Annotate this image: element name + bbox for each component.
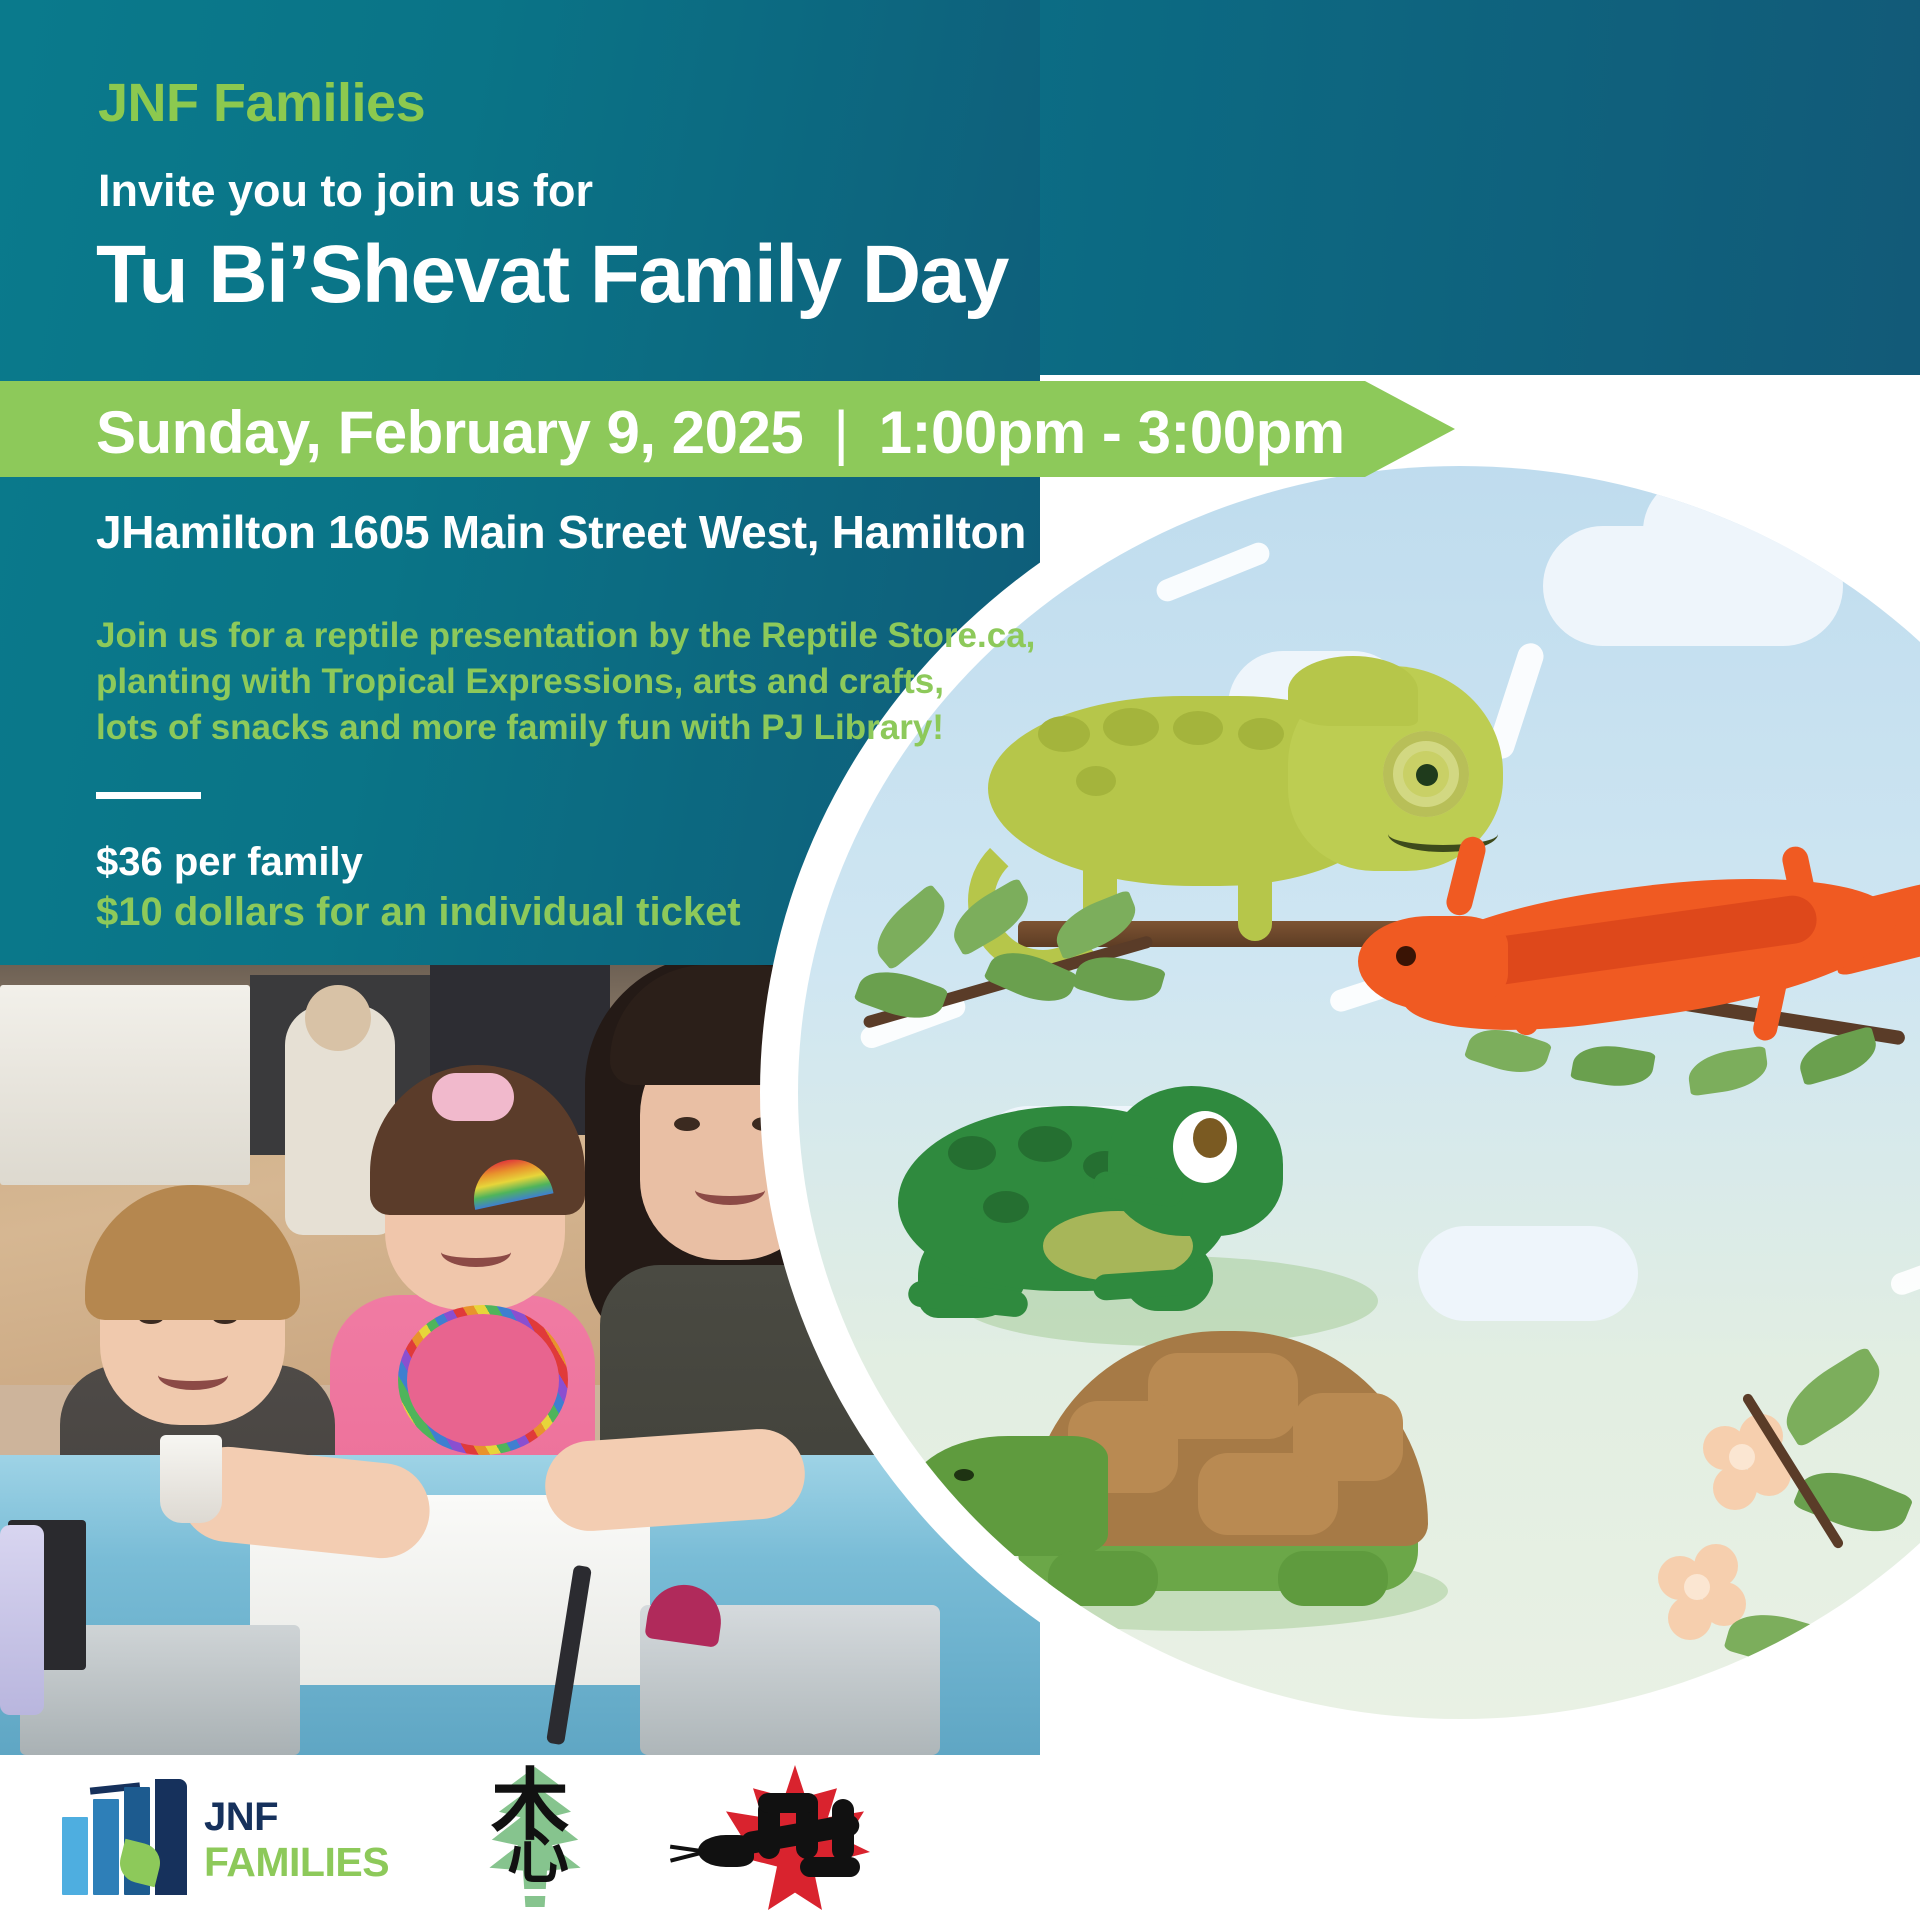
chameleon-spot xyxy=(1038,716,1090,752)
snake-body xyxy=(800,1857,860,1877)
leaf-icon xyxy=(1570,1039,1656,1092)
reptile-store-logo xyxy=(700,1765,880,1910)
turtle-foot xyxy=(1048,1551,1158,1606)
snake-body xyxy=(832,1799,854,1861)
photo-hair-bow xyxy=(432,1073,514,1121)
chameleon-leg xyxy=(1238,841,1272,941)
cloud-icon xyxy=(1418,1226,1638,1321)
turtle-head xyxy=(908,1436,1108,1556)
leaf-icon xyxy=(1794,1026,1882,1087)
footer-logo-bar: JNF FAMILIES 木 心 xyxy=(0,1755,1920,1920)
event-time: 1:00pm - 3:00pm xyxy=(879,399,1345,466)
description-line-2: planting with Tropical Expressions, arts… xyxy=(96,659,1035,705)
leaf-icon xyxy=(1686,1046,1771,1097)
swoosh-icon xyxy=(1153,539,1273,604)
frog-icon xyxy=(878,1056,1278,1356)
te-glyph-2: 心 xyxy=(507,1833,569,1883)
jnf-logo-line1: JNF xyxy=(204,1795,278,1840)
chameleon-pupil xyxy=(1416,764,1438,786)
frog-spot xyxy=(948,1136,996,1170)
snake-body xyxy=(758,1793,818,1813)
jnf-families-logo: JNF FAMILIES xyxy=(62,1777,382,1897)
description-line-1: Join us for a reptile presentation by th… xyxy=(96,613,1035,659)
price-individual: $10 dollars for an individual ticket xyxy=(96,890,741,935)
venue-address: JHamilton 1605 Main Street West, Hamilto… xyxy=(96,505,1107,559)
turtle-foot xyxy=(1278,1551,1388,1606)
jnf-bar xyxy=(62,1817,88,1895)
snake-tongue-icon xyxy=(670,1851,700,1862)
event-description: Join us for a reptile presentation by th… xyxy=(96,613,1035,751)
ribbon-separator: | xyxy=(819,398,862,467)
frog-pupil xyxy=(1193,1118,1227,1158)
jnf-bars-icon xyxy=(62,1785,192,1895)
date-time-text: Sunday, February 9, 2025 | 1:00pm - 3:00… xyxy=(96,398,1345,467)
newt-leg xyxy=(1444,834,1489,918)
leaf-icon xyxy=(1773,1346,1894,1448)
jnf-bar xyxy=(93,1799,119,1895)
photo-table xyxy=(0,985,250,1185)
divider-rule xyxy=(96,792,201,799)
invite-line: Invite you to join us for xyxy=(98,165,593,217)
chameleon-crest xyxy=(1288,656,1418,726)
description-line-3: lots of snacks and more family fun with … xyxy=(96,705,1035,751)
jnf-bar xyxy=(155,1779,187,1895)
photo-paper-cup xyxy=(160,1435,222,1523)
photo-bead-necklace xyxy=(398,1305,568,1455)
frog-spot xyxy=(983,1191,1029,1223)
chameleon-spot xyxy=(1238,718,1284,750)
shell-segment xyxy=(1293,1393,1403,1481)
price-family: $36 per family xyxy=(96,840,363,885)
event-poster: JNF Families Invite you to join us for T… xyxy=(0,0,1920,1920)
brand-title: JNF Families xyxy=(98,72,425,134)
cloud-icon xyxy=(1643,476,1823,586)
turtle-eye xyxy=(954,1469,974,1481)
tropical-expressions-logo: 木 心 xyxy=(455,1767,615,1907)
chameleon-spot xyxy=(1076,766,1116,796)
swoosh-icon xyxy=(1888,1236,1920,1298)
turtle-icon xyxy=(908,1321,1468,1621)
chameleon-spot xyxy=(1173,711,1223,745)
frog-spot xyxy=(1018,1126,1072,1162)
snake-head-icon xyxy=(698,1835,754,1867)
newt-eye xyxy=(1396,946,1416,966)
chameleon-spot xyxy=(1103,708,1159,746)
page-title: Tu Bi’Shevat Family Day xyxy=(96,228,1008,322)
jnf-logo-line2: FAMILIES xyxy=(204,1839,389,1886)
photo-glue-bottle xyxy=(0,1525,44,1715)
leaf-icon xyxy=(865,883,958,970)
newt-icon xyxy=(1358,796,1920,1096)
photo-background-child-head xyxy=(305,985,371,1051)
newt-head xyxy=(1358,916,1508,1011)
event-date: Sunday, February 9, 2025 xyxy=(96,399,803,466)
